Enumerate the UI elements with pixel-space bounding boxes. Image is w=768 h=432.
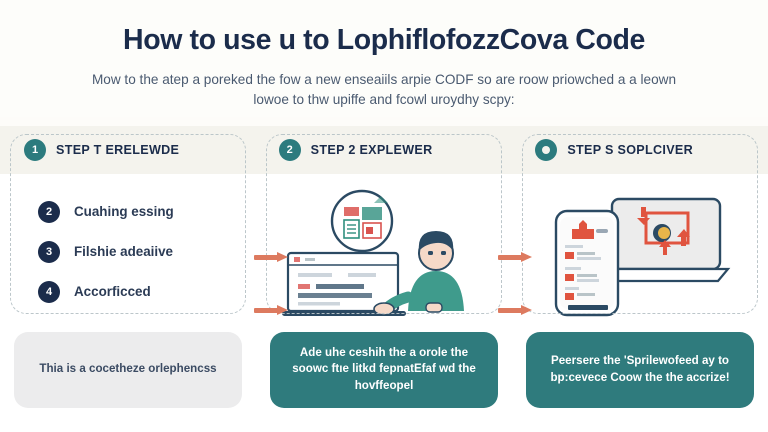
column-step-3 <box>512 174 768 332</box>
step-badge-1-icon: 1 <box>24 139 46 161</box>
step-header-1: 1 STEP T ERELEWDE <box>0 126 257 174</box>
checklist: 2 Cuahing essing 3 Filshie adeaiive 4 Ac… <box>16 201 240 303</box>
step-badge-3-ring-icon <box>535 139 557 161</box>
list-item: 4 Accorficced <box>38 281 240 303</box>
column-step-2 <box>256 174 512 332</box>
step-header-3: STEP S SOPLCIVER <box>511 126 768 174</box>
list-item: 2 Cuahing essing <box>38 201 240 223</box>
list-badge-icon: 3 <box>38 241 60 263</box>
step-label-2: STEP 2 EXPLEWER <box>311 143 433 157</box>
phone-and-laptop-icon <box>534 185 746 325</box>
columns: 2 Cuahing essing 3 Filshie adeaiive 4 Ac… <box>0 174 768 332</box>
step-header-2: 2 STEP 2 EXPLEWER <box>257 126 512 174</box>
footer-row: Thia is a cocetheze orlephencss Ade uhe … <box>0 332 768 432</box>
list-item: 3 Filshie adeaiive <box>38 241 240 263</box>
list-item-label: Accorficced <box>74 284 151 299</box>
page-subtitle: Mow to the atep a poreked the fow a new … <box>84 70 684 111</box>
column-step-1: 2 Cuahing essing 3 Filshie adeaiive 4 Ac… <box>0 174 256 332</box>
footer-cell-3: Peersere the 'Sprilewofeed ay to bp:ceve… <box>512 332 768 408</box>
steps-band: 1 STEP T ERELEWDE 2 STEP 2 EXPLEWER STEP… <box>0 126 768 174</box>
illustration-person-laptop <box>272 185 496 325</box>
footer-note-3: Peersere the 'Sprilewofeed ay to bp:ceve… <box>526 332 754 408</box>
step-label-3: STEP S SOPLCIVER <box>567 143 693 157</box>
list-badge-icon: 2 <box>38 201 60 223</box>
step-badge-2-icon: 2 <box>279 139 301 161</box>
column-3-body <box>512 174 768 332</box>
column-2-body <box>256 174 512 332</box>
footer-note-2: Ade uhe ceshih the a orole the soowc ftı… <box>270 332 498 408</box>
infographic-root: How to use u to LophiflofozzCova Code Mo… <box>0 0 768 432</box>
column-1-body: 2 Cuahing essing 3 Filshie adeaiive 4 Ac… <box>0 174 256 332</box>
page-title: How to use u to LophiflofozzCova Code <box>34 24 734 57</box>
footer-note-1: Thia is a cocetheze orlephencss <box>14 332 242 408</box>
list-item-label: Filshie adeaiive <box>74 244 173 259</box>
header: How to use u to LophiflofozzCova Code Mo… <box>0 0 768 117</box>
footer-cell-1: Thia is a cocetheze orlephencss <box>0 332 256 408</box>
illustration-phone-laptop <box>528 185 752 325</box>
person-at-laptop-icon <box>276 185 492 325</box>
step-label-1: STEP T ERELEWDE <box>56 143 179 157</box>
footer-cell-2: Ade uhe ceshih the a orole the soowc ftı… <box>256 332 512 408</box>
list-badge-icon: 4 <box>38 281 60 303</box>
list-item-label: Cuahing essing <box>74 204 174 219</box>
